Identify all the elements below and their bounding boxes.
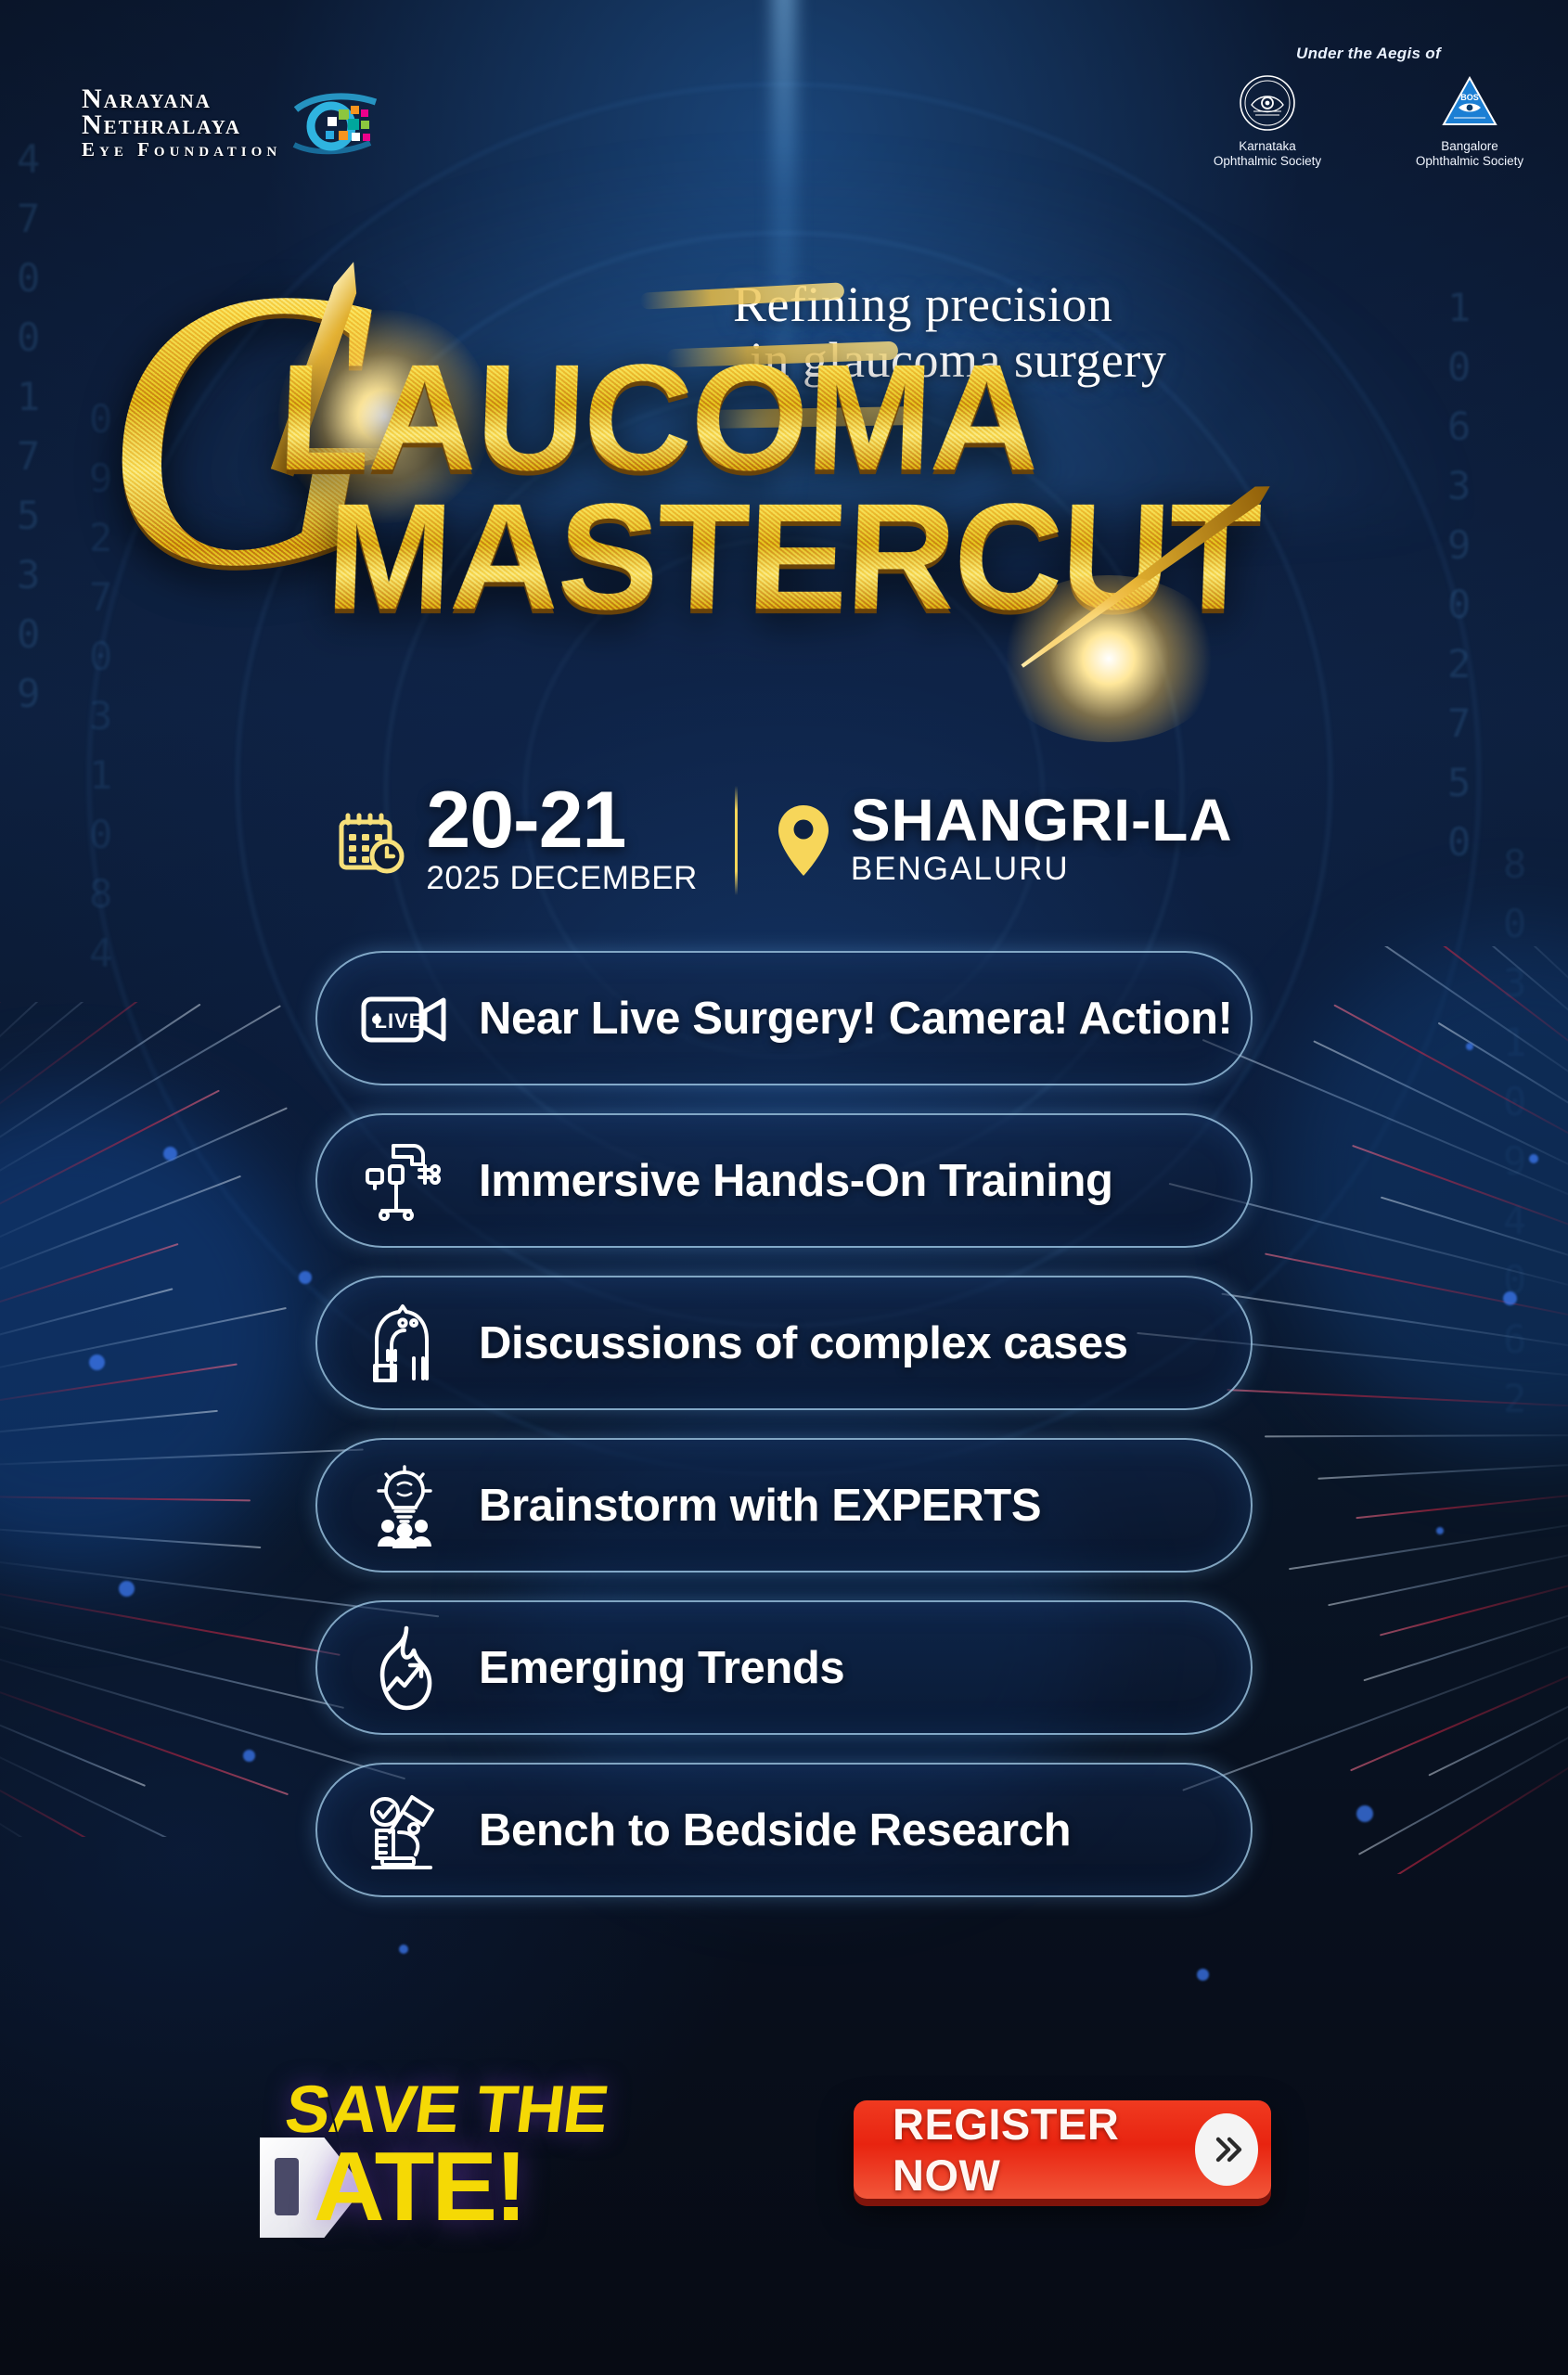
surgical-microscope-cart-icon [358, 1135, 451, 1227]
brand-line-3: Eye Foundation [82, 140, 281, 160]
wordmark-line-1: LAUCOMA [276, 341, 1041, 493]
feature-item-emerging-trends[interactable]: Emerging Trends [315, 1600, 1253, 1735]
lightbulb-brain-people-icon [358, 1459, 451, 1552]
spark-glow [993, 575, 1225, 742]
feature-item-label: Emerging Trends [479, 1642, 844, 1694]
event-date-month: 2025 DECEMBER [426, 861, 697, 897]
brand-wordmark: Narayana Nethralaya Eye Foundation [82, 85, 281, 160]
save-the-date-graphic: SAVE THE ATE! [271, 2076, 661, 2262]
feature-item-label: Immersive Hands-On Training [479, 1155, 1113, 1207]
aegis-partner-list: Karnataka Ophthalmic Society BOS [1169, 74, 1568, 170]
flame-trend-arrow-icon [358, 1622, 451, 1714]
aegis-partner-name-1: Karnataka [1239, 139, 1296, 153]
live-video-camera-icon: LIVE [358, 972, 451, 1065]
event-date-days: 20-21 [426, 784, 697, 857]
narayana-nethralaya-logo: Narayana Nethralaya Eye Foundation [82, 85, 379, 160]
feature-list: LIVE Near Live Surgery! Camera! Action! [0, 951, 1568, 1897]
double-chevron-right-icon [1195, 2113, 1258, 2186]
event-venue: SHANGRI-LA BENGALURU [775, 793, 1233, 887]
event-meta: 20-21 2025 DECEMBER SHANGRI-LA BENGALURU [0, 784, 1568, 897]
register-now-button[interactable]: REGISTER NOW [854, 2100, 1271, 2199]
feature-item-hands-on-training[interactable]: Immersive Hands-On Training [315, 1113, 1253, 1248]
svg-text:BOS: BOS [1460, 93, 1479, 102]
aegis-partner-name-1: Bangalore [1441, 139, 1498, 153]
feature-item-label: Discussions of complex cases [479, 1317, 1128, 1369]
hero-section: Refining precision in glaucoma surgery G… [0, 232, 1568, 770]
feature-item-complex-cases[interactable]: Discussions of complex cases [315, 1276, 1253, 1410]
case-discussion-icon [358, 1297, 451, 1390]
event-venue-city: BENGALURU [851, 852, 1233, 888]
feature-item-label: Brainstorm with EXPERTS [479, 1480, 1041, 1532]
eye-swirl-pixels-icon [290, 89, 379, 156]
save-the-date-line-2: ATE! [314, 2137, 524, 2236]
meta-divider [735, 786, 738, 895]
feature-item-brainstorm-experts[interactable]: Brainstorm with EXPERTS [315, 1438, 1253, 1573]
speed-line [640, 282, 845, 309]
poster-footer: SAVE THE ATE! REGISTER NOW [0, 2060, 1568, 2310]
svg-text:LIVE: LIVE [375, 1009, 424, 1033]
brand-line-2: Nethralaya [82, 111, 281, 139]
aegis-partner: BOS Bangalore Ophthalmic Society [1400, 74, 1539, 170]
feature-item-label: Near Live Surgery! Camera! Action! [479, 993, 1232, 1045]
poster-header: Narayana Nethralaya Eye Foundation [0, 0, 1568, 213]
register-now-label: REGISTER NOW [893, 2099, 1195, 2201]
aegis-partner-label: Karnataka Ophthalmic Society [1214, 139, 1321, 170]
aegis-section: Under the Aegis of Kar [1169, 45, 1568, 170]
feature-item-live-surgery[interactable]: LIVE Near Live Surgery! Camera! Action! [315, 951, 1253, 1085]
event-date: 20-21 2025 DECEMBER [335, 784, 697, 897]
karnataka-ophthalmic-society-seal-icon [1239, 74, 1296, 132]
location-pin-icon [775, 802, 832, 879]
aegis-partner-label: Bangalore Ophthalmic Society [1416, 139, 1523, 170]
feature-item-label: Bench to Bedside Research [479, 1804, 1071, 1856]
feature-item-bench-to-bedside[interactable]: Bench to Bedside Research [315, 1763, 1253, 1897]
aegis-title: Under the Aegis of [1169, 45, 1568, 63]
calendar-clock-icon [335, 804, 407, 877]
event-wordmark: G LAUCOMA MASTERCUT [0, 232, 1568, 770]
microscope-check-icon [358, 1784, 451, 1877]
aegis-partner-name-2: Ophthalmic Society [1416, 154, 1523, 168]
event-poster: 4 7 0 0 1 7 5 3 0 9 0 9 2 7 0 3 1 0 8 4 … [0, 0, 1568, 2375]
bangalore-ophthalmic-society-triangle-icon: BOS [1441, 74, 1498, 132]
event-venue-name: SHANGRI-LA [851, 793, 1233, 848]
aegis-partner: Karnataka Ophthalmic Society [1198, 74, 1337, 170]
aegis-partner-name-2: Ophthalmic Society [1214, 154, 1321, 168]
